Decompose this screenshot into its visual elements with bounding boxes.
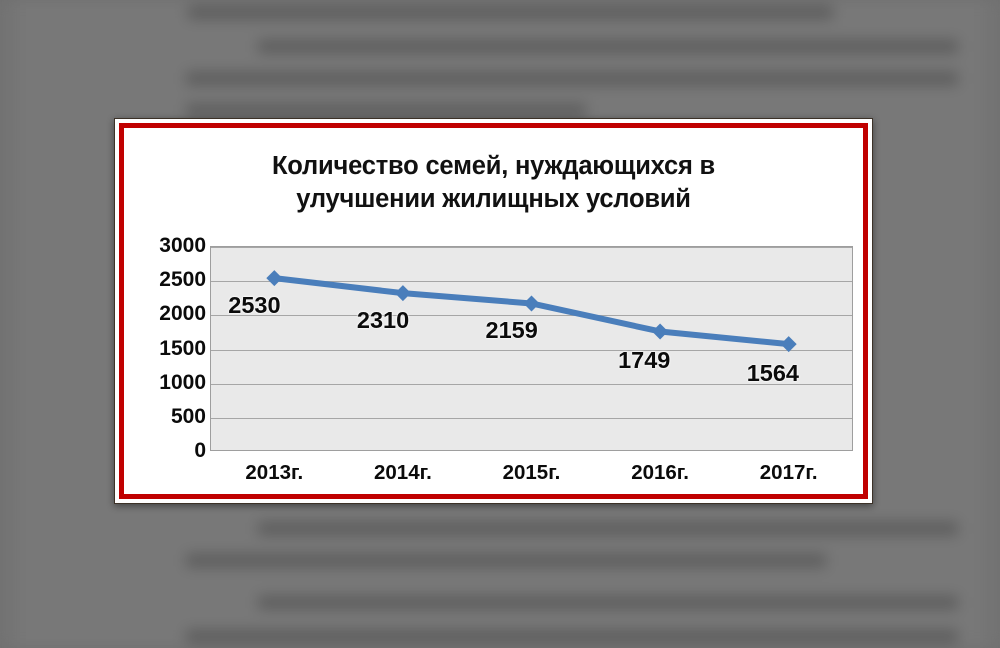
y-tick-label: 1000 (136, 371, 206, 395)
chart-card: Количество семей, нуждающихся в улучшени… (114, 118, 873, 504)
data-label: 1564 (747, 360, 799, 387)
data-label: 2530 (228, 292, 280, 319)
chart-red-frame: Количество семей, нуждающихся в улучшени… (119, 123, 868, 499)
data-label: 1749 (618, 347, 670, 374)
chart-title: Количество семей, нуждающихся в улучшени… (164, 150, 823, 216)
y-tick-label: 3000 (136, 234, 206, 258)
data-label: 2310 (357, 307, 409, 334)
x-tick-label: 2016г. (600, 461, 720, 485)
chart-title-line-2: улучшении жилищных условий (164, 183, 823, 216)
data-point-marker (395, 285, 411, 301)
screenshot-stage: Количество семей, нуждающихся в улучшени… (0, 0, 1000, 648)
y-tick-label: 0 (136, 439, 206, 463)
data-point-marker (652, 323, 668, 339)
y-tick-label: 1500 (136, 337, 206, 361)
chart-title-line-1: Количество семей, нуждающихся в (164, 150, 823, 183)
x-axis: 2013г.2014г.2015г.2016г.2017г. (210, 461, 853, 491)
y-tick-label: 2000 (136, 302, 206, 326)
x-tick-label: 2013г. (214, 461, 334, 485)
x-tick-label: 2014г. (343, 461, 463, 485)
y-tick-label: 500 (136, 405, 206, 429)
data-point-marker (524, 295, 540, 311)
data-point-marker (266, 270, 282, 286)
data-point-marker (781, 336, 797, 352)
line-chart: Количество семей, нуждающихся в улучшени… (124, 128, 863, 494)
y-tick-label: 2500 (136, 268, 206, 292)
x-tick-label: 2017г. (729, 461, 849, 485)
y-axis: 300025002000150010005000 (130, 246, 206, 451)
x-tick-label: 2015г. (472, 461, 592, 485)
data-series (210, 246, 853, 451)
data-label: 2159 (486, 317, 538, 344)
